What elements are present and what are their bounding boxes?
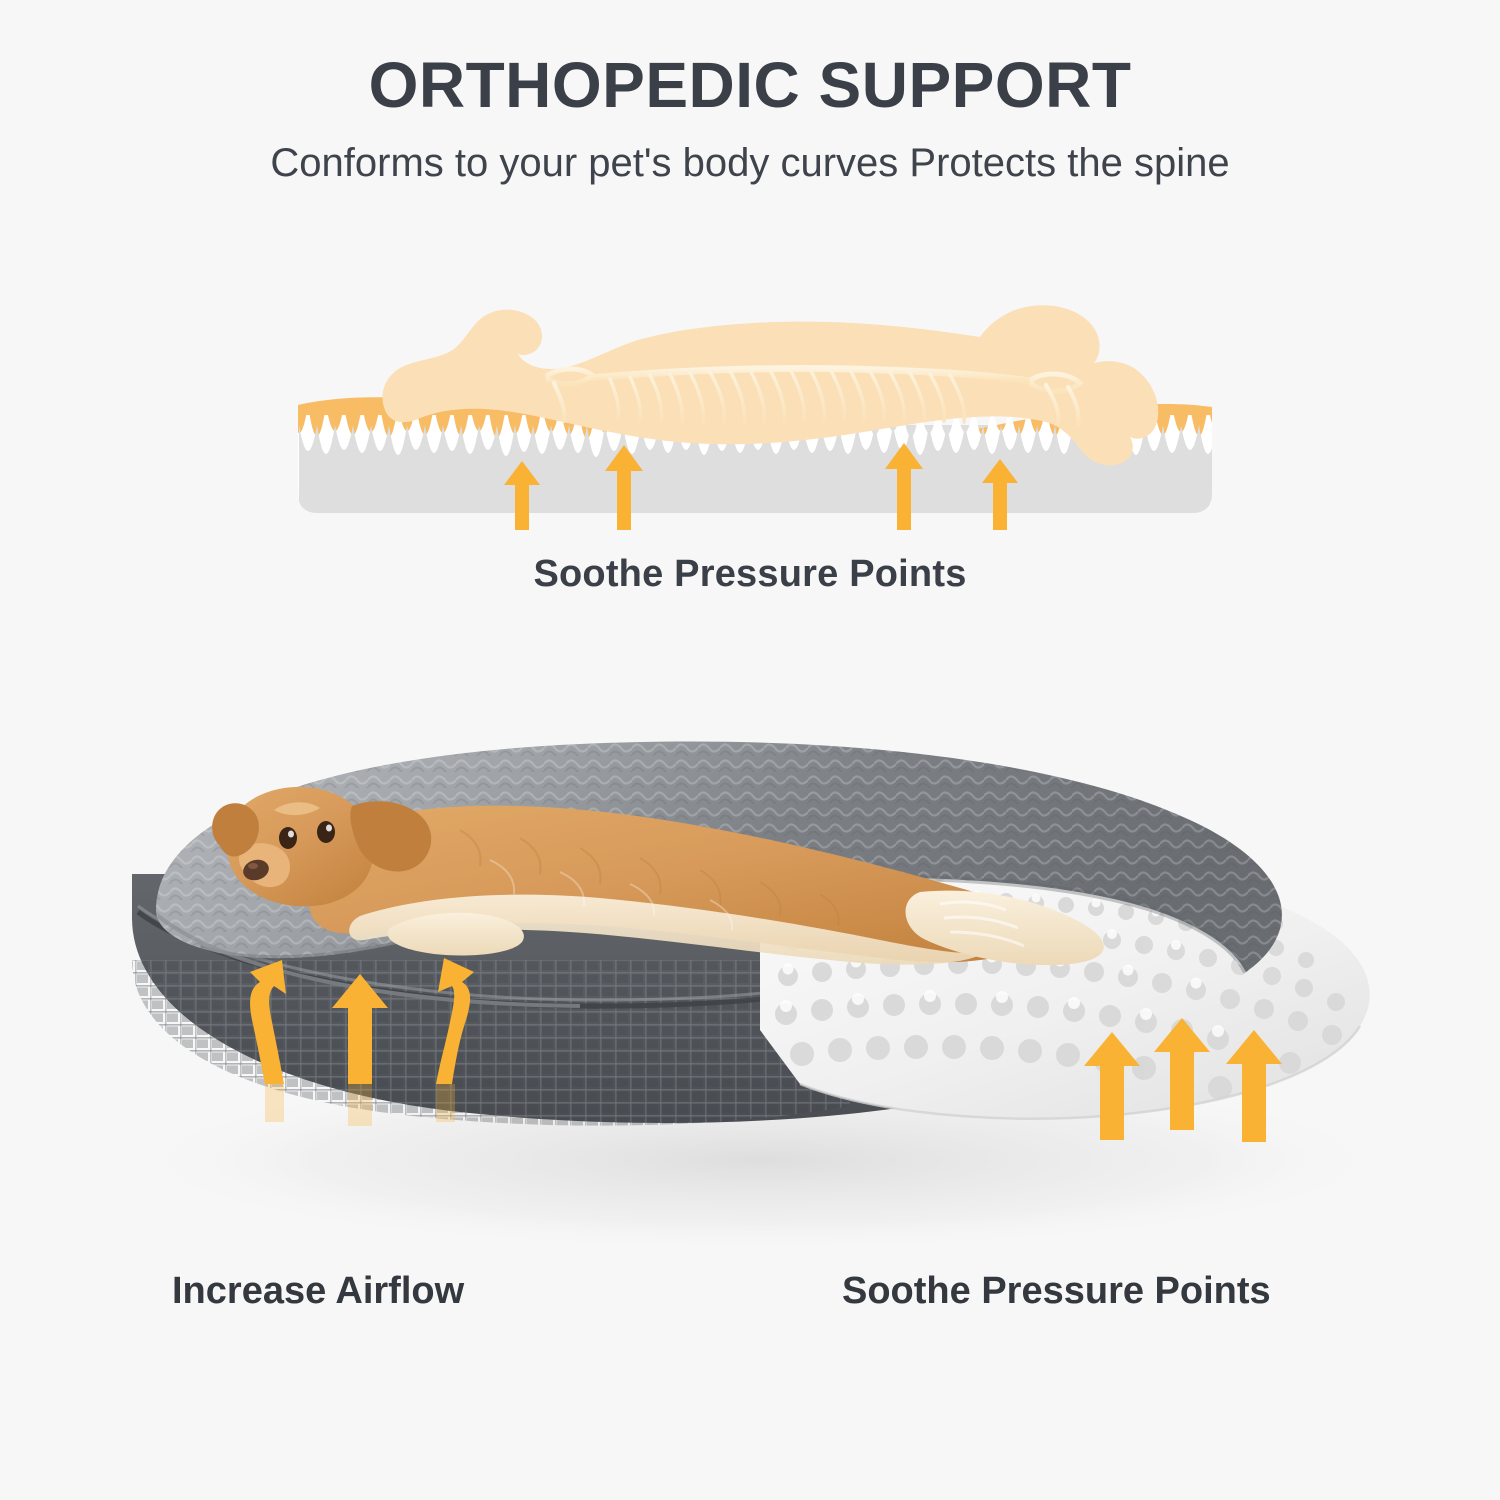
caption-soothe-pressure-points: Soothe Pressure Points [842, 1270, 1271, 1313]
page-title: ORTHOPEDIC SUPPORT [0, 52, 1500, 119]
foam-cross-section-diagram [290, 275, 1220, 530]
dog-eye-right [317, 821, 335, 843]
dog-eye-left [279, 827, 297, 849]
product-photo [60, 660, 1450, 1280]
diagram-caption: Soothe Pressure Points [0, 553, 1500, 596]
pressure-point-arrows [1084, 1018, 1282, 1142]
header: ORTHOPEDIC SUPPORT Conforms to your pet'… [0, 0, 1500, 187]
page-subtitle: Conforms to your pet's body curves Prote… [0, 139, 1500, 187]
caption-increase-airflow: Increase Airflow [172, 1270, 464, 1313]
